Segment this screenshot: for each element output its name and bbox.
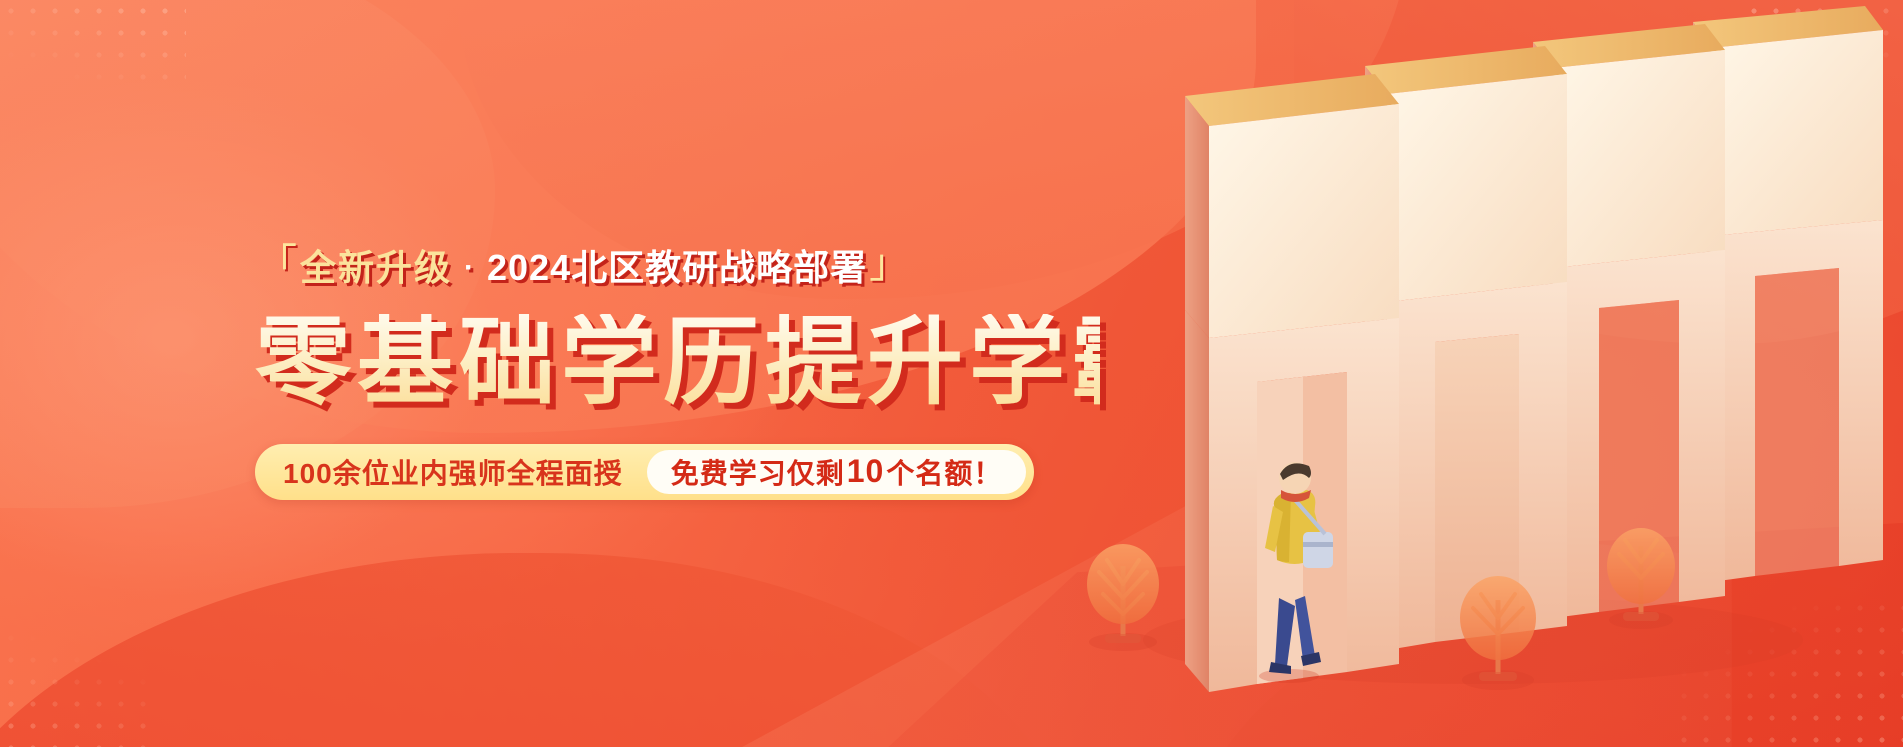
pill-left-label: 100余位业内强师全程面授: [283, 452, 647, 492]
banner-content: 「 全新升级 · 2024北区教研战略部署 」 零基础学历提升学霸班 100余位…: [0, 0, 1100, 747]
arch-book-2: [1365, 46, 1567, 650]
subtitle-highlight: 全新升级: [300, 250, 452, 286]
pill-right-prefix: 免费学习仅剩: [671, 452, 845, 492]
banner-title: 零基础学历提升学霸班: [255, 314, 1100, 410]
dot-grid-bottom-right: [1673, 597, 1903, 747]
promo-banner: 「 全新升级 · 2024北区教研战略部署 」 零基础学历提升学霸班 100余位…: [0, 0, 1903, 747]
wave-shape-bottom-2: [1180, 568, 1903, 747]
arch-book-4: [1693, 6, 1883, 582]
banner-highlight-pill: 100余位业内强师全程面授 免费学习仅剩10个名额！: [255, 444, 1034, 500]
tree-center: [1460, 576, 1536, 690]
arch-book-3: [1533, 24, 1725, 618]
pill-right-badge: 免费学习仅剩10个名额！: [647, 450, 1027, 494]
bracket-close-icon: 」: [869, 244, 910, 284]
student-figure: [1259, 462, 1333, 683]
dot-grid-top-right: [1743, 0, 1903, 108]
pill-remaining-count: 10: [845, 453, 887, 490]
subtitle-rest: 2024北区教研战略部署: [487, 250, 867, 286]
banner-subtitle: 「 全新升级 · 2024北区教研战略部署 」: [255, 248, 1100, 288]
wave-shape-d: [1294, 0, 1903, 344]
pill-right-suffix: 个名额！: [886, 452, 1002, 492]
bracket-open-icon: 「: [257, 244, 298, 284]
tree-right: [1607, 528, 1675, 629]
subtitle-separator-icon: ·: [464, 253, 475, 283]
